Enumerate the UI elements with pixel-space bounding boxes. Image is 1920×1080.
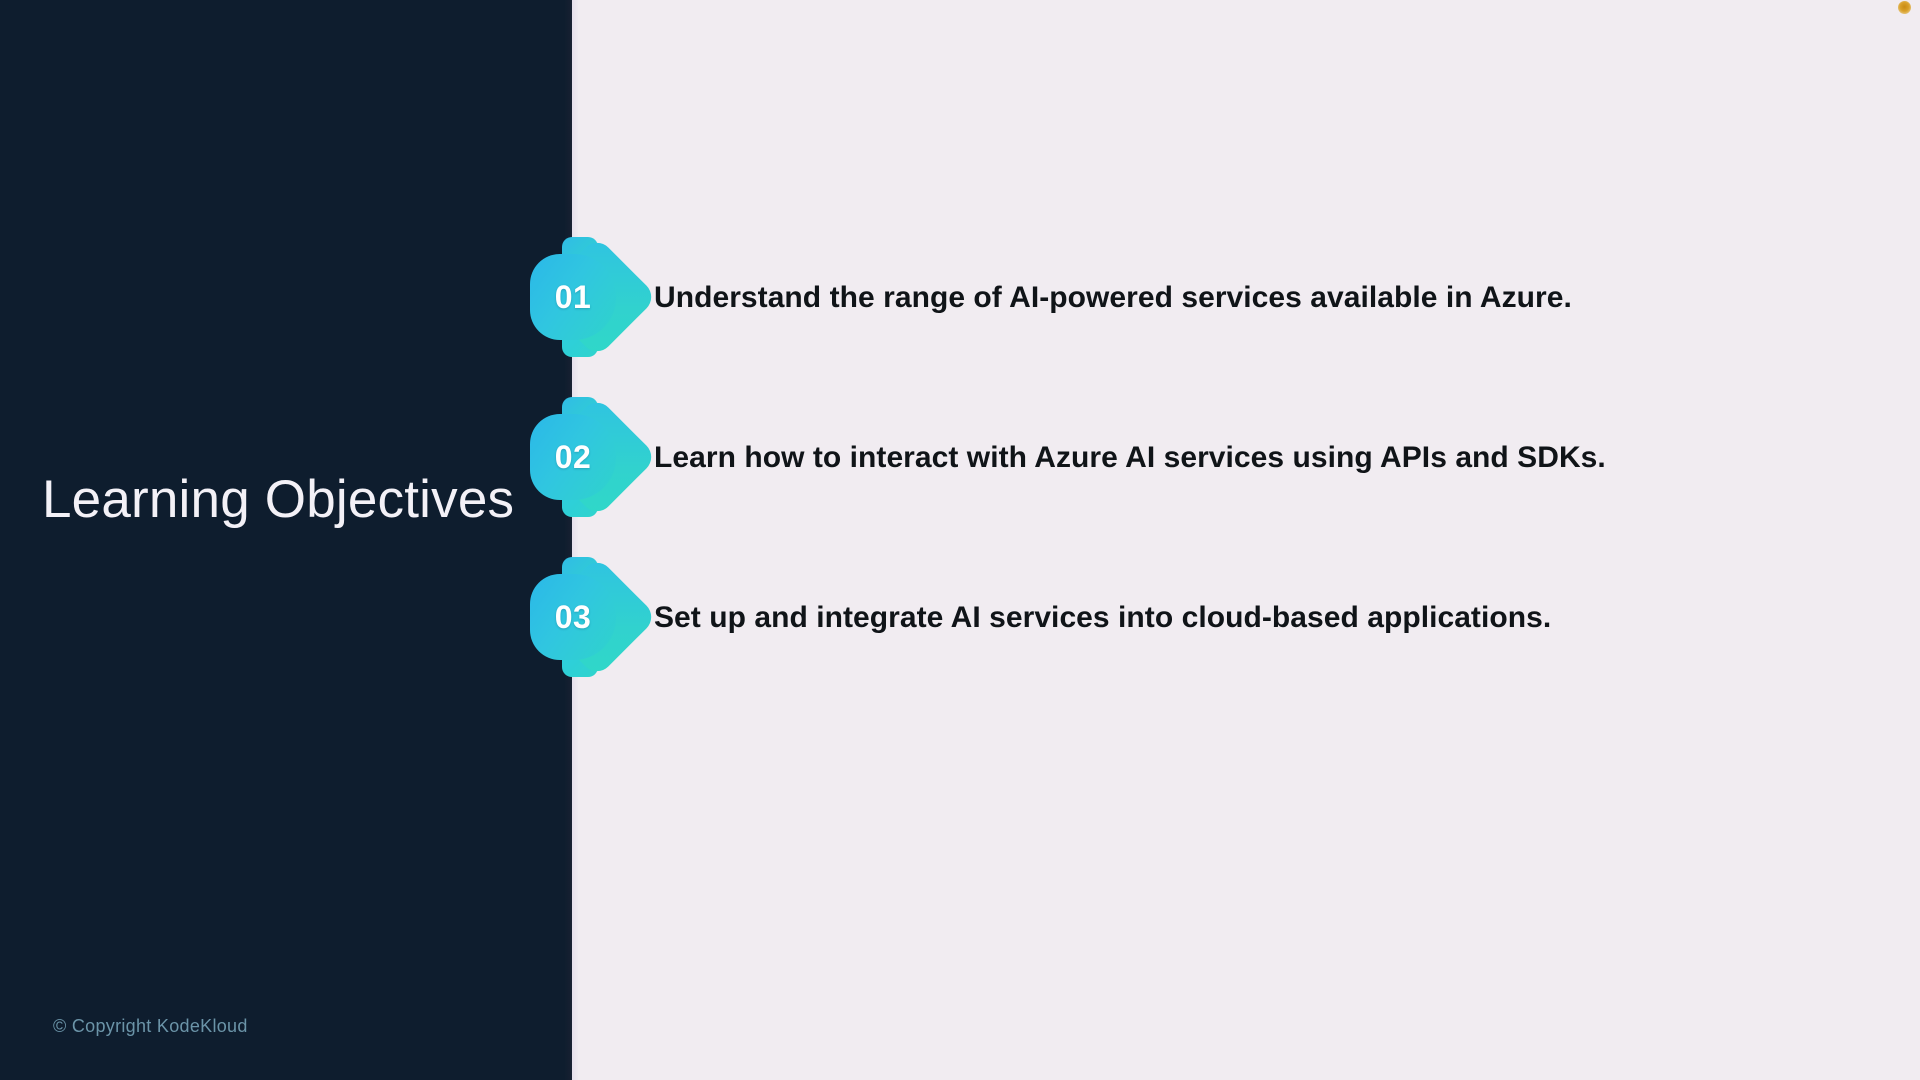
objective-number: 01: [530, 254, 616, 340]
objective-number-badge: 01: [530, 237, 630, 357]
objective-number-badge: 03: [530, 557, 630, 677]
objectives-list: 01 Understand the range of AI-powered se…: [0, 0, 1920, 1080]
objective-number: 02: [530, 414, 616, 500]
objective-row: 02 Learn how to interact with Azure AI s…: [530, 397, 1870, 517]
objective-text: Understand the range of AI-powered servi…: [654, 278, 1572, 317]
objective-row: 03 Set up and integrate AI services into…: [530, 557, 1870, 677]
amber-dot-icon: [1898, 1, 1911, 14]
objective-number: 03: [530, 574, 616, 660]
footer-copyright: © Copyright KodeKloud: [53, 1016, 248, 1037]
objective-text: Learn how to interact with Azure AI serv…: [654, 438, 1606, 477]
slide-canvas: Learning Objectives 01 Understand the ra…: [0, 0, 1920, 1080]
objective-number-badge: 02: [530, 397, 630, 517]
objective-row: 01 Understand the range of AI-powered se…: [530, 237, 1870, 357]
objective-text: Set up and integrate AI services into cl…: [654, 598, 1551, 637]
